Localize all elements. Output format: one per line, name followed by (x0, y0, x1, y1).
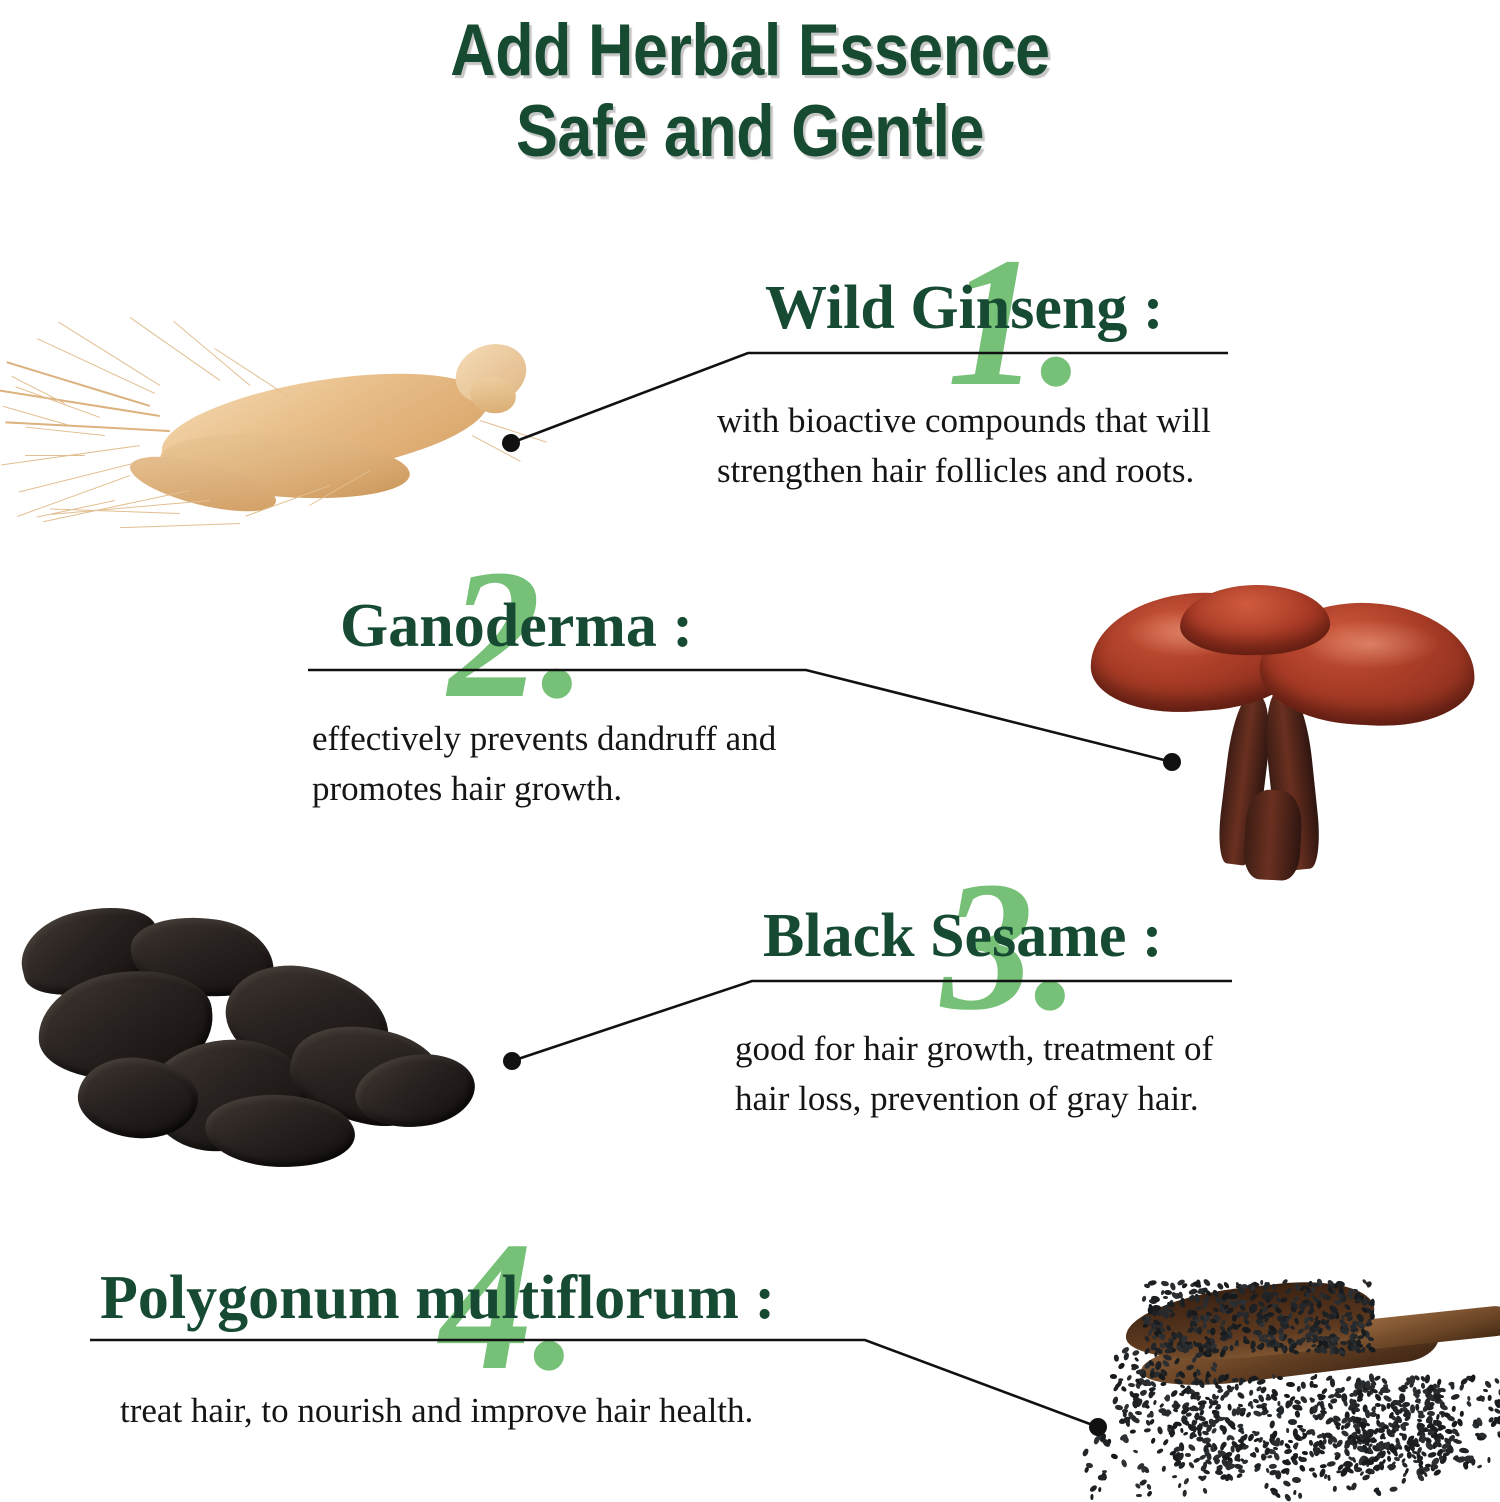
leader-line-4 (90, 1340, 1098, 1427)
leader-dot-2 (1163, 753, 1181, 771)
leader-dot-4 (1089, 1418, 1107, 1436)
leader-line-1 (511, 353, 1228, 443)
leader-dot-3 (503, 1052, 521, 1070)
leader-lines (0, 0, 1500, 1500)
leader-line-3 (512, 981, 1232, 1061)
leader-dot-1 (502, 434, 520, 452)
leader-line-2 (308, 670, 1172, 762)
